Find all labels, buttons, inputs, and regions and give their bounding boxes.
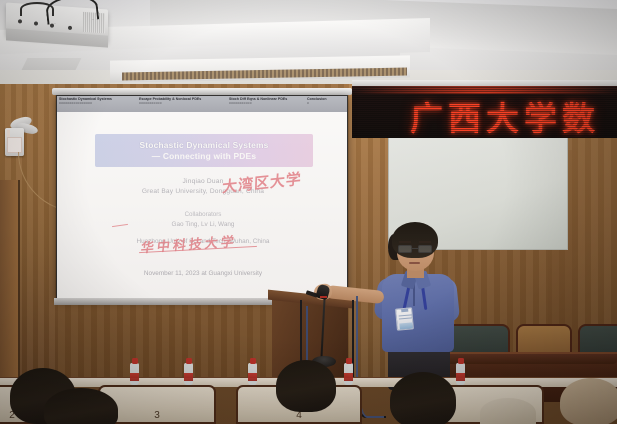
slide-nav-label: Conclusion bbox=[307, 97, 327, 101]
badge-logo bbox=[399, 322, 412, 329]
slide-nav-dots: o bbox=[307, 101, 347, 105]
screen-roller bbox=[52, 88, 352, 95]
bottle-label bbox=[456, 373, 465, 381]
audience-head bbox=[276, 360, 336, 412]
bottle-label bbox=[248, 373, 257, 381]
audience-head bbox=[390, 372, 456, 424]
water-bottle bbox=[456, 363, 465, 385]
slide-title-banner: Stochastic Dynamical Systems — Connectin… bbox=[95, 134, 313, 167]
speaker-eyebrow bbox=[399, 241, 411, 243]
slide-nav-item-2: Stoch Diff Eqns & Nonlinear PDEs ooooooo… bbox=[227, 97, 305, 105]
door-frame-left bbox=[0, 180, 20, 384]
projection-screen: Stochastic Dynamical Systems ooooooooooo… bbox=[56, 95, 348, 300]
badge-text-line bbox=[399, 317, 412, 319]
slide-title-line2: — Connecting with PDEs bbox=[152, 151, 256, 161]
slide-body: Stochastic Dynamical Systems — Connectin… bbox=[57, 112, 348, 300]
bottle-label bbox=[130, 373, 139, 381]
wall-device-label bbox=[7, 137, 22, 153]
slide-nav-label: Stoch Diff Eqns & Nonlinear PDEs bbox=[229, 97, 287, 101]
slide-collaborators-heading: Collaborators bbox=[57, 211, 348, 218]
slide-nav-dots: ooooooooooo bbox=[229, 101, 305, 105]
speaker-badge bbox=[395, 307, 414, 330]
slide-affiliation: Great Bay University, Dongguan, China bbox=[57, 188, 348, 195]
audience-head bbox=[44, 388, 118, 424]
projector-port bbox=[68, 26, 72, 30]
audience-head bbox=[560, 378, 617, 424]
bottle-label bbox=[344, 373, 353, 381]
speaker-eyebrow bbox=[419, 241, 431, 243]
slide-nav-bar: Stochastic Dynamical Systems ooooooooooo… bbox=[57, 96, 348, 112]
bottle-label bbox=[184, 373, 193, 381]
slide-nav-label: Escape Probability & Nonlocal PDEs bbox=[139, 97, 201, 101]
lecture-hall-photo: 广西大学数 Stochastic Dynamical Systems ooooo… bbox=[0, 0, 617, 424]
water-bottle bbox=[130, 363, 139, 385]
slide-collaborators: Gao Ting, Lv Li, Wang bbox=[57, 221, 348, 228]
slide-date: November 11, 2023 at Guangxi University bbox=[57, 270, 348, 277]
glasses-lens bbox=[398, 245, 412, 253]
slide-nav-dots: oooooooooooooooo bbox=[59, 101, 137, 105]
badge-text-line bbox=[399, 314, 412, 316]
audience-head bbox=[480, 398, 536, 424]
projector-cable bbox=[20, 2, 54, 16]
slide-nav-item-1: Escape Probability & Nonlocal PDEs ooooo… bbox=[137, 97, 227, 105]
water-bottle bbox=[344, 363, 353, 385]
microphone-ring bbox=[320, 296, 327, 298]
badge-clip bbox=[401, 309, 408, 313]
slide-nav-dots: ooooooooooo bbox=[139, 101, 227, 105]
glasses-lens bbox=[418, 245, 432, 253]
slide-title-line1: Stochastic Dynamical Systems bbox=[140, 140, 269, 150]
slide-nav-item-0: Stochastic Dynamical Systems ooooooooooo… bbox=[57, 97, 137, 105]
led-banner-text: 广西大学数 bbox=[410, 92, 600, 138]
projector-port bbox=[18, 19, 22, 23]
slide-nav-label: Stochastic Dynamical Systems bbox=[59, 97, 112, 101]
seat-number: 3 bbox=[154, 410, 160, 422]
slide-nav-item-3: Conclusion o bbox=[305, 97, 347, 105]
water-bottle bbox=[248, 363, 257, 385]
led-banner: 广西大学数 bbox=[352, 86, 617, 138]
slide-author: Jinqiao Duan bbox=[57, 178, 348, 185]
glasses-icon bbox=[397, 245, 434, 253]
water-bottle bbox=[184, 363, 193, 385]
projector-port bbox=[34, 21, 38, 25]
